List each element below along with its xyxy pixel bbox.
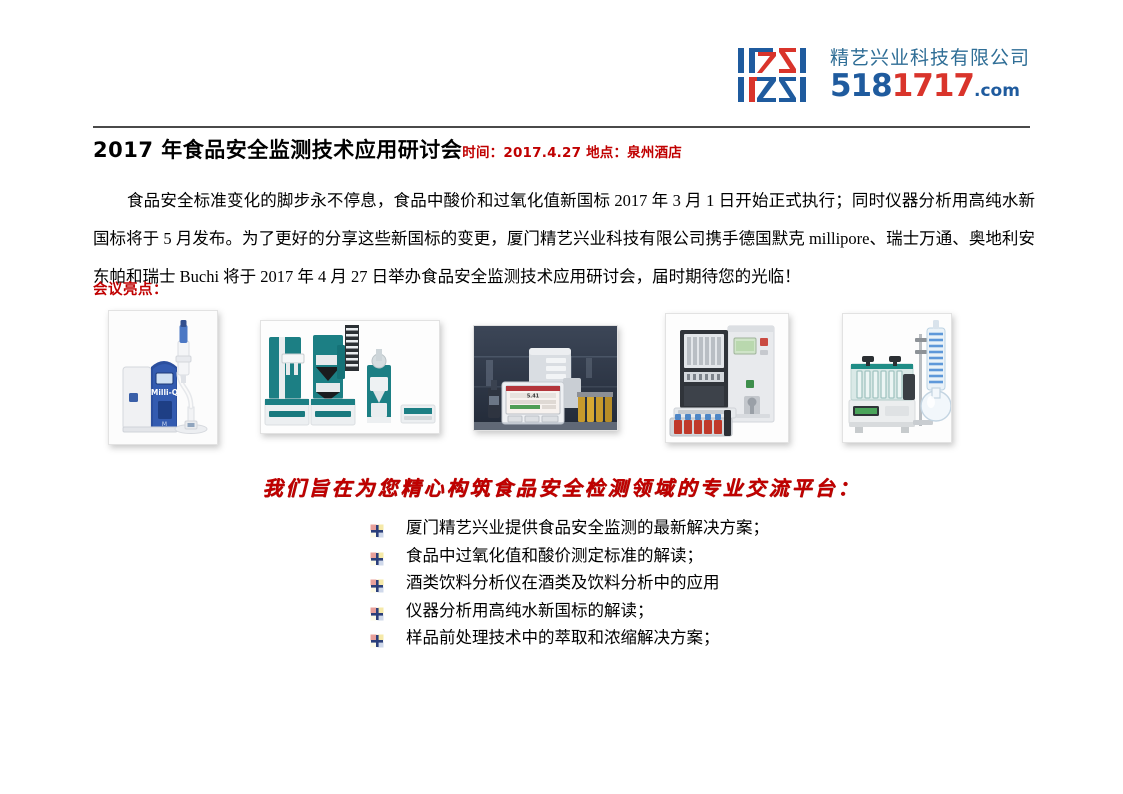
photo-metrohm-titration-ion-chromatography-system bbox=[260, 320, 440, 434]
list-item-label: 厦门精艺兴业提供食品安全监测的最新解决方案； bbox=[406, 518, 769, 537]
document-page: 精艺兴业科技有限公司 5181717.com 2017 年食品安全监测技术应用研… bbox=[0, 0, 1123, 794]
svg-text:Milli-Q: Milli-Q bbox=[151, 388, 178, 397]
domain-suffix-com: .com bbox=[974, 81, 1020, 101]
highlights-list: 厦门精艺兴业提供食品安全监测的最新解决方案； 食品中过氧化值和酸价测定标准的解读… bbox=[368, 516, 888, 654]
list-item-label: 食品中过氧化值和酸价测定标准的解读； bbox=[406, 546, 703, 565]
multicolor-cross-bullet-icon bbox=[370, 576, 384, 590]
list-item: 酒类饮料分析仪在酒类及饮料分析中的应用 bbox=[368, 571, 888, 596]
multicolor-cross-bullet-icon bbox=[370, 521, 384, 535]
product-photo-strip: Milli-Q M bbox=[100, 308, 970, 448]
photo-automated-extraction-sample-prep-system bbox=[665, 313, 789, 443]
multicolor-cross-bullet-icon bbox=[370, 549, 384, 563]
intro-paragraph: 食品安全标准变化的脚步永不停息，食品中酸价和过氧化值新国标 2017 年 3 月… bbox=[93, 182, 1035, 296]
photo-buchi-multivapor-evaporator bbox=[842, 313, 952, 443]
highlights-heading: 会议亮点： bbox=[93, 278, 168, 299]
list-item: 样品前处理技术中的萃取和浓缩解决方案； bbox=[368, 626, 888, 651]
domain-part-1717: 1717 bbox=[892, 68, 974, 104]
page-title-row: 2017 年食品安全监测技术应用研讨会时间：2017.4.27 地点：泉州酒店 bbox=[93, 134, 1033, 164]
page-title: 2017 年食品安全监测技术应用研讨会 bbox=[93, 138, 462, 162]
event-time-location: 时间：2017.4.27 地点：泉州酒店 bbox=[462, 145, 682, 161]
list-item-label: 酒类饮料分析仪在酒类及饮料分析中的应用 bbox=[406, 573, 720, 592]
list-item: 食品中过氧化值和酸价测定标准的解读； bbox=[368, 544, 888, 569]
page-header: 精艺兴业科技有限公司 5181717.com bbox=[93, 46, 1030, 124]
company-domain: 5181717.com bbox=[830, 71, 1030, 102]
company-logo-block: 精艺兴业科技有限公司 5181717.com bbox=[736, 46, 1030, 104]
domain-part-518: 518 bbox=[830, 68, 892, 104]
photo-anton-paar-alcohol-beverage-analyzer: 5.41 bbox=[473, 325, 618, 431]
list-item: 厦门精艺兴业提供食品安全监测的最新解决方案； bbox=[368, 516, 888, 541]
photo-milli-q-water-purification-system: Milli-Q M bbox=[108, 310, 218, 445]
svg-text:5.41: 5.41 bbox=[527, 394, 540, 400]
multicolor-cross-bullet-icon bbox=[370, 604, 384, 618]
jingyi-geometric-logo-icon bbox=[736, 46, 818, 104]
list-item: 仪器分析用高纯水新国标的解读； bbox=[368, 599, 888, 624]
company-name: 精艺兴业科技有限公司 bbox=[830, 48, 1030, 70]
list-item-label: 样品前处理技术中的萃取和浓缩解决方案； bbox=[406, 628, 720, 647]
header-divider-rule bbox=[93, 126, 1030, 128]
slogan-headline: 我们旨在为您精心构筑食品安全检测领域的专业交流平台： bbox=[0, 472, 1123, 501]
list-item-label: 仪器分析用高纯水新国标的解读； bbox=[406, 601, 654, 620]
logo-text-block: 精艺兴业科技有限公司 5181717.com bbox=[830, 48, 1030, 103]
multicolor-cross-bullet-icon bbox=[370, 631, 384, 645]
